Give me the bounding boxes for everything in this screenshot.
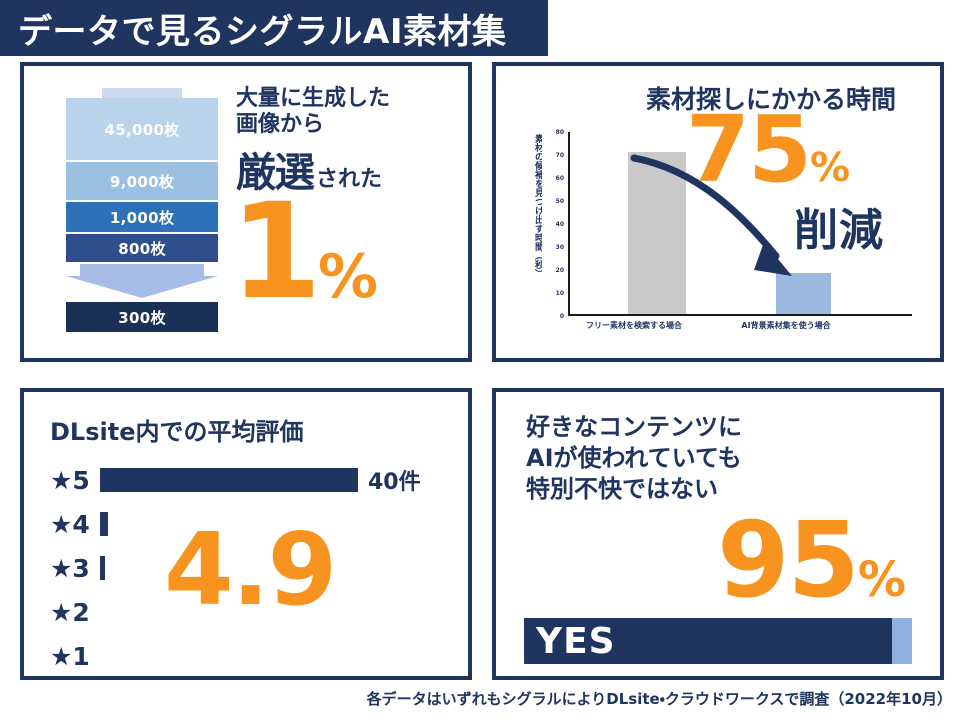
chart-x-axis-line [568, 314, 912, 316]
panel-ai-acceptance-survey: 好きなコンテンツに AIが使われていても 特別不快ではない 95 % YES [492, 388, 944, 680]
funnel-stage-label: 800枚 [118, 238, 166, 259]
survey-question-line1: 好きなコンテンツに [526, 412, 742, 443]
bar-free-material-search [628, 152, 686, 314]
y-tick-20: 20 [542, 267, 564, 274]
rating-row-label: ★4 [50, 510, 100, 539]
funnel-stage-45000: 45,000枚 [66, 98, 218, 160]
y-tick-40: 40 [542, 221, 564, 228]
panel-image-selection: 45,000枚 9,000枚 1,000枚 800枚 300枚 大量に生成した … [20, 62, 472, 362]
funnel-chart: 45,000枚 9,000枚 1,000枚 800枚 300枚 [54, 88, 229, 343]
rating-row-1: ★1 [50, 634, 450, 678]
survey-stat-unit: % [858, 552, 906, 608]
survey-bar-fill-yes: YES [524, 618, 892, 664]
funnel-caption: 大量に生成した 画像から 厳選 された 1 % [236, 86, 461, 313]
rating-row-bar [100, 468, 358, 492]
funnel-caption-line2: 画像から [236, 112, 461, 138]
down-arrow-icon [66, 264, 218, 298]
funnel-highlight-stat: 1 % [230, 192, 461, 313]
funnel-stage-1000: 1,000枚 [66, 202, 218, 232]
y-tick-70: 70 [542, 152, 564, 159]
survey-stat-number: 95 [717, 508, 858, 612]
funnel-stage-label: 300枚 [118, 307, 166, 328]
page-title: データで見るシグラルAI素材集 [18, 4, 506, 53]
panel-time-saved: 素材探しにかかる時間 75 % 削減 素材の候補を見つけ出す時間（秒） 0 10… [492, 62, 944, 362]
y-tick-0: 0 [542, 313, 564, 320]
survey-bar-label: YES [536, 621, 616, 662]
y-tick-80: 80 [542, 129, 564, 136]
rating-row-bar [100, 556, 105, 580]
y-tick-30: 30 [542, 244, 564, 251]
x-tick-label-ai-set: AI背景素材集を使う場合 [706, 320, 866, 331]
rating-row-label: ★1 [50, 642, 100, 671]
funnel-stage-9000: 9,000枚 [66, 162, 218, 200]
y-tick-50: 50 [542, 198, 564, 205]
funnel-stage-label: 1,000枚 [110, 207, 174, 228]
survey-question-line2: AIが使われていても [526, 443, 742, 474]
rating-row-label: ★3 [50, 554, 100, 583]
chart-y-axis-label: 素材の候補を見つけ出す時間（秒） [522, 134, 542, 326]
time-bar-chart: 素材の候補を見つけ出す時間（秒） 0 10 20 30 40 50 60 70 … [520, 124, 920, 346]
rating-row-bar [100, 512, 108, 536]
footnote-source: 各データはいずれもシグラルによりDLsite・クラウドワークスで調査（2022年… [367, 688, 952, 709]
rating-average-value: 4.9 [164, 520, 335, 620]
rating-row-count: 40件 [368, 464, 421, 496]
funnel-stage-label: 45,000枚 [105, 119, 180, 140]
x-tick-label-free-search: フリー素材を検索する場合 [554, 320, 714, 331]
rating-row-label: ★5 [50, 466, 100, 495]
rating-row-5: ★5 40件 [50, 458, 450, 502]
rating-panel-title: DLsite内での平均評価 [50, 412, 303, 447]
funnel-stat-unit: % [318, 247, 378, 307]
funnel-stage-800: 800枚 [66, 234, 218, 262]
rating-row-label: ★2 [50, 598, 100, 627]
y-tick-10: 10 [542, 290, 564, 297]
survey-question: 好きなコンテンツに AIが使われていても 特別不快ではない [526, 412, 742, 506]
funnel-caption-strong-suffix: された [316, 161, 382, 193]
survey-bar-track: YES [524, 618, 912, 664]
panel-average-rating: DLsite内での平均評価 ★5 40件 ★4 ★3 ★2 ★1 4.9 [20, 388, 472, 680]
survey-question-line3: 特別不快ではない [526, 474, 742, 505]
bar-ai-material-set [776, 273, 831, 314]
survey-highlight-stat: 95 % [717, 508, 906, 612]
funnel-stat-number: 1 [230, 192, 318, 313]
title-banner: データで見るシグラルAI素材集 [0, 0, 548, 56]
funnel-caption-line1: 大量に生成した [236, 86, 461, 112]
y-tick-60: 60 [542, 175, 564, 182]
funnel-stage-label: 9,000枚 [110, 171, 174, 192]
chart-plot-area [570, 132, 912, 314]
funnel-stage-300: 300枚 [66, 302, 218, 332]
